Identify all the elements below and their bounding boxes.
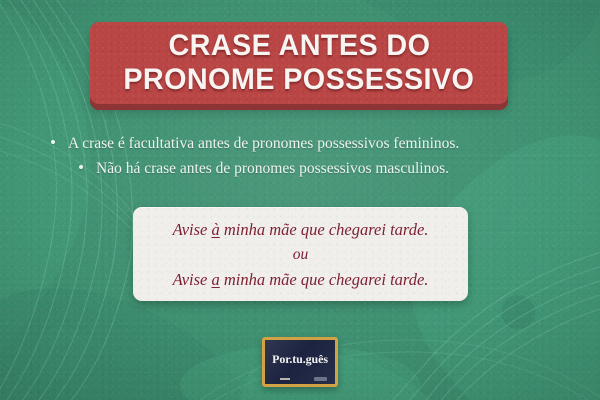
example-line-1: Avise à minha mãe que chegarei tarde. bbox=[173, 217, 429, 242]
example-suffix: minha mãe que chegarei tarde. bbox=[220, 270, 429, 289]
bullet-dot-icon bbox=[79, 165, 83, 169]
logo-chalkboard: Por.tu.guês bbox=[262, 337, 338, 387]
bullet-list: A crase é facultativa antes de pronomes … bbox=[0, 131, 600, 181]
bullet-dot-icon bbox=[51, 140, 55, 144]
eraser-icon bbox=[314, 377, 327, 381]
example-prefix: Avise bbox=[173, 220, 212, 239]
slide-canvas: CRASE ANTES DO PRONOME POSSESSIVO A cras… bbox=[0, 0, 600, 400]
example-line-2: Avise a minha mãe que chegarei tarde. bbox=[173, 267, 429, 292]
example-highlight-a-plain: a bbox=[212, 270, 220, 289]
list-item: A crase é facultativa antes de pronomes … bbox=[0, 131, 600, 156]
bullet-text: Não há crase antes de pronomes possessiv… bbox=[96, 156, 449, 181]
example-prefix: Avise bbox=[173, 270, 212, 289]
title-banner: CRASE ANTES DO PRONOME POSSESSIVO bbox=[90, 22, 508, 104]
chalk-tray bbox=[271, 377, 329, 381]
example-card: Avise à minha mãe que chegarei tarde. ou… bbox=[133, 207, 468, 301]
list-item: Não há crase antes de pronomes possessiv… bbox=[0, 156, 600, 181]
example-highlight-a-accented: à bbox=[212, 220, 220, 239]
example-suffix: minha mãe que chegarei tarde. bbox=[220, 220, 429, 239]
title-line-1: CRASE ANTES DO bbox=[168, 29, 430, 63]
chalk-stick-icon bbox=[280, 378, 289, 380]
logo-text: Por.tu.guês bbox=[272, 352, 328, 367]
bullet-text: A crase é facultativa antes de pronomes … bbox=[68, 131, 459, 156]
title-line-2: PRONOME POSSESSIVO bbox=[124, 63, 475, 97]
example-conjunction: ou bbox=[293, 242, 309, 267]
